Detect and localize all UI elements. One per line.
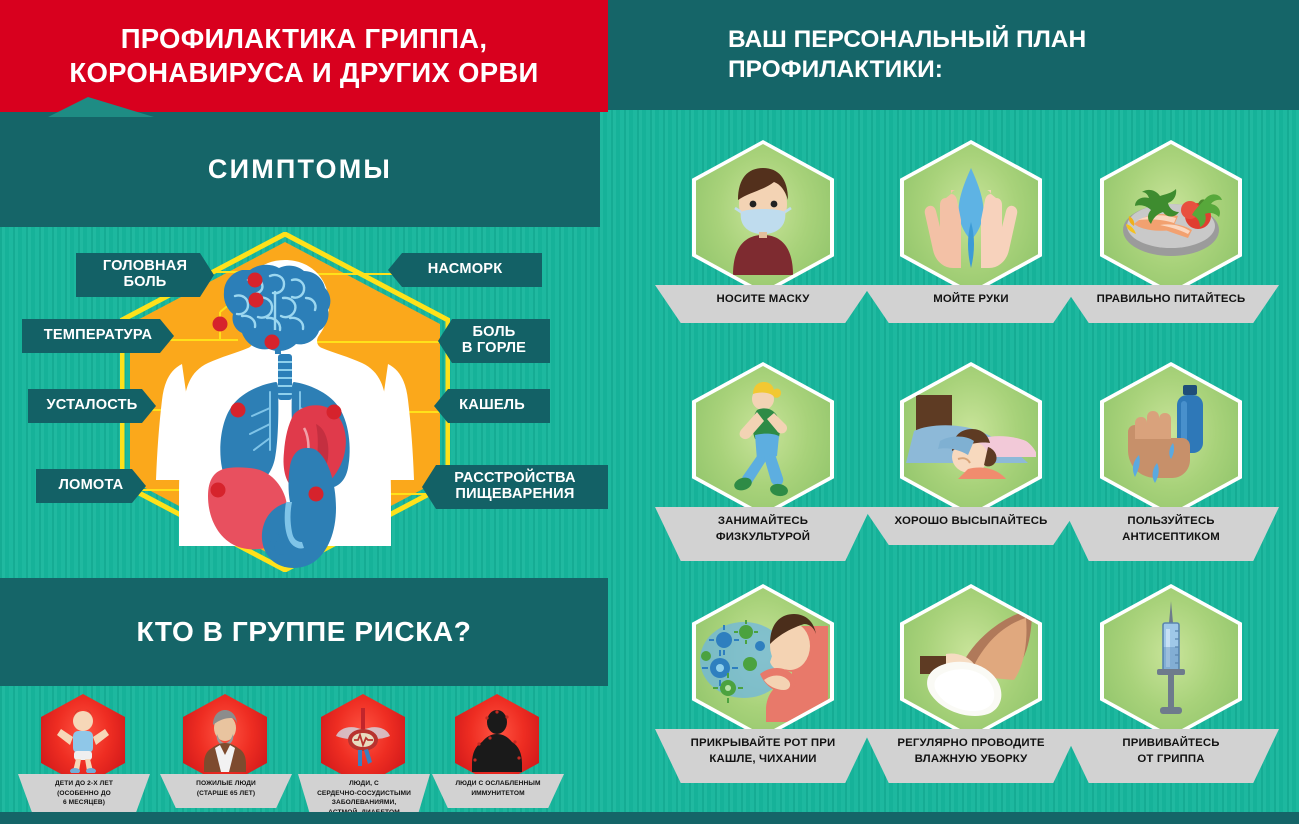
risk-item-chronic-disease[interactable]: ЛЮДИ, С СЕРДЕЧНО-СОСУДИСТЫМИ ЗАБОЛЕВАНИЯ… — [298, 694, 428, 824]
risk-caption-line: ЛЮДИ, С — [302, 779, 426, 789]
main-title-banner: ПРОФИЛАКТИКА ГРИППА, КОРОНАВИРУСА И ДРУГ… — [0, 0, 608, 112]
symptom-label-runny-nose: НАСМОРК — [388, 253, 542, 287]
plan-title-line2: ПРОФИЛАКТИКИ: — [728, 56, 943, 83]
prevention-caption-line: ЗАНИМАЙТЕСЬ — [661, 513, 865, 529]
face-mask-icon — [713, 160, 813, 275]
prevention-hexagon — [692, 584, 834, 739]
prevention-caption: ПРИВИВАЙТЕСЬ ОТ ГРИППА — [1063, 729, 1279, 783]
risk-hexagon — [321, 694, 405, 786]
antiseptic-icon — [1115, 381, 1227, 499]
risk-caption-line: ЗАБОЛЕВАНИЯМИ, — [302, 798, 426, 808]
risk-caption-line: ДЕТИ ДО 2-Х ЛЕТ — [22, 779, 146, 789]
risk-caption-line: 6 МЕСЯЦЕВ) — [22, 798, 146, 808]
banner-notch-triangle — [48, 97, 154, 117]
prevention-hexagon-inner — [1104, 588, 1238, 735]
risk-item-elderly[interactable]: ПОЖИЛЫЕ ЛЮДИ (СТАРШЕ 65 ЛЕТ) — [160, 694, 290, 808]
prevention-hexagon-inner — [696, 588, 830, 735]
risk-caption-line: СЕРДЕЧНО-СОСУДИСТЫМИ — [302, 789, 426, 799]
symptom-text: НАСМОРК — [428, 262, 503, 278]
main-title-line1: ПРОФИЛАКТИКА ГРИППА, — [121, 23, 488, 54]
symptom-label-digestive: РАССТРОЙСТВА ПИЩЕВАРЕНИЯ — [422, 465, 608, 509]
symptom-text: ПИЩЕВАРЕНИЯ — [455, 486, 574, 502]
symptom-label-headache: ГОЛОВНАЯ БОЛЬ — [76, 253, 214, 297]
risk-caption-line: ИММУНИТЕТОМ — [436, 789, 560, 799]
prevention-caption-line: КАШЛЕ, ЧИХАНИИ — [661, 751, 865, 767]
risk-caption-line: ПОЖИЛЫЕ ЛЮДИ — [164, 779, 288, 789]
page-title: ПРОФИЛАКТИКА ГРИППА, КОРОНАВИРУСА И ДРУГ… — [35, 22, 572, 89]
prevention-hexagon-inner — [904, 366, 1038, 513]
prevention-caption: НОСИТЕ МАСКУ — [655, 285, 871, 323]
risk-section-header: КТО В ГРУППЕ РИСКА? — [0, 578, 608, 686]
prevention-hexagon-inner — [1104, 366, 1238, 513]
prevention-item-exercise[interactable]: ЗАНИМАЙТЕСЬ ФИЗКУЛЬТУРОЙ — [648, 362, 878, 561]
symptom-label-temperature: ТЕМПЕРАТУРА — [22, 319, 174, 353]
main-title-line2: КОРОНАВИРУСА И ДРУГИХ ОРВИ — [69, 57, 538, 88]
prevention-caption-line: ОТ ГРИППА — [1069, 751, 1273, 767]
prevention-caption: МОЙТЕ РУКИ — [863, 285, 1079, 323]
prevention-caption: ЗАНИМАЙТЕСЬ ФИЗКУЛЬТУРОЙ — [655, 507, 871, 561]
prevention-hexagon — [900, 584, 1042, 739]
plan-section-header: ВАШ ПЕРСОНАЛЬНЫЙ ПЛАН ПРОФИЛАКТИКИ: — [608, 0, 1299, 110]
plan-title-line1: ВАШ ПЕРСОНАЛЬНЫЙ ПЛАН — [728, 26, 1086, 53]
trachea-icon — [278, 354, 292, 400]
symptoms-title: СИМПТОМЫ — [208, 154, 392, 185]
prevention-caption-line: НОСИТЕ МАСКУ — [661, 291, 865, 307]
prevention-item-cover-cough[interactable]: ПРИКРЫВАЙТЕ РОТ ПРИ КАШЛЕ, ЧИХАНИИ — [648, 584, 878, 783]
symptom-text: ЛОМОТА — [59, 478, 124, 494]
prevention-item-antiseptic[interactable]: ПОЛЬЗУЙТЕСЬ АНТИСЕПТИКОМ — [1056, 362, 1286, 561]
risk-caption-line: (СТАРШЕ 65 ЛЕТ) — [164, 789, 288, 799]
prevention-item-sleep[interactable]: ХОРОШО ВЫСЫПАЙТЕСЬ — [856, 362, 1086, 545]
prevention-caption: ПОЛЬЗУЙТЕСЬ АНТИСЕПТИКОМ — [1063, 507, 1279, 561]
risk-caption-line: ЛЮДИ С ОСЛАБЛЕННЫМ — [436, 779, 560, 789]
prevention-hexagon — [1100, 362, 1242, 517]
prevention-hexagon — [692, 140, 834, 295]
syringe-icon — [1141, 601, 1201, 723]
symptom-text: БОЛЬ — [472, 324, 515, 340]
prevention-caption-line: ФИЗКУЛЬТУРОЙ — [661, 529, 865, 545]
elderly-person-icon — [198, 708, 252, 772]
prevention-hexagon-inner — [696, 366, 830, 513]
prevention-hexagon — [1100, 140, 1242, 295]
prevention-hexagon — [1100, 584, 1242, 739]
risk-caption: ЛЮДИ С ОСЛАБЛЕННЫМ ИММУНИТЕТОМ — [432, 774, 564, 808]
prevention-hexagon — [692, 362, 834, 517]
healthy-food-icon — [1112, 168, 1230, 268]
wet-cleaning-icon — [906, 604, 1036, 719]
prevention-caption-line: ХОРОШО ВЫСЫПАЙТЕСЬ — [869, 513, 1073, 529]
prevention-caption-line: ПОЛЬЗУЙТЕСЬ — [1069, 513, 1273, 529]
symptom-text: ГОЛОВНАЯ — [103, 258, 187, 274]
symptom-label-cough: КАШЕЛЬ — [434, 389, 550, 423]
baby-icon — [55, 707, 111, 773]
risk-group-list: ДЕТИ ДО 2-Х ЛЕТ (ОСОБЕННО ДО 6 МЕСЯЦЕВ) … — [0, 686, 608, 824]
prevention-hexagon-inner — [904, 144, 1038, 291]
footer-strip — [0, 812, 1299, 824]
prevention-item-wear-mask[interactable]: НОСИТЕ МАСКУ — [648, 140, 878, 323]
prevention-caption-line: РЕГУЛЯРНО ПРОВОДИТЕ — [869, 735, 1073, 751]
washing-hands-icon — [916, 160, 1026, 275]
prevention-caption-line: ПРИКРЫВАЙТЕ РОТ ПРИ — [661, 735, 865, 751]
risk-hexagon — [455, 694, 539, 786]
cover-cough-icon — [698, 602, 828, 722]
heart-disease-icon — [334, 706, 392, 774]
risk-item-children[interactable]: ДЕТИ ДО 2-Х ЛЕТ (ОСОБЕННО ДО 6 МЕСЯЦЕВ) — [18, 694, 148, 818]
prevention-item-wash-hands[interactable]: МОЙТЕ РУКИ — [856, 140, 1086, 323]
prevention-item-flu-vaccine[interactable]: ПРИВИВАЙТЕСЬ ОТ ГРИППА — [1056, 584, 1286, 783]
prevention-hexagon-inner — [1104, 144, 1238, 291]
symptoms-section-header: СИМПТОМЫ — [0, 112, 600, 227]
risk-hexagon — [41, 694, 125, 786]
symptom-text: КАШЕЛЬ — [459, 398, 525, 414]
prevention-caption-line: ПРИВИВАЙТЕСЬ — [1069, 735, 1273, 751]
symptom-label-fatigue: УСТАЛОСТЬ — [28, 389, 156, 423]
symptom-label-bodyache: ЛОМОТА — [36, 469, 146, 503]
prevention-hexagon — [900, 140, 1042, 295]
prevention-caption: РЕГУЛЯРНО ПРОВОДИТЕ ВЛАЖНУЮ УБОРКУ — [863, 729, 1079, 783]
symptom-text: БОЛЬ — [123, 274, 166, 290]
prevention-caption-line: ПРАВИЛЬНО ПИТАЙТЕСЬ — [1069, 291, 1273, 307]
risk-caption-line: (ОСОБЕННО ДО — [22, 789, 146, 799]
infographic-root: ПРОФИЛАКТИКА ГРИППА, КОРОНАВИРУСА И ДРУГ… — [0, 0, 1299, 824]
risk-hexagon — [183, 694, 267, 786]
symptoms-diagram: ГОЛОВНАЯ БОЛЬ ТЕМПЕРАТУРА УСТАЛОСТЬ ЛОМО… — [0, 227, 608, 579]
symptom-text: УСТАЛОСТЬ — [47, 398, 138, 414]
prevention-caption-line: МОЙТЕ РУКИ — [869, 291, 1073, 307]
symptom-text: РАССТРОЙСТВА — [454, 470, 575, 486]
risk-title: КТО В ГРУППЕ РИСКА? — [137, 616, 472, 648]
prevention-caption: ПРИКРЫВАЙТЕ РОТ ПРИ КАШЛЕ, ЧИХАНИИ — [655, 729, 871, 783]
prevention-caption: ПРАВИЛЬНО ПИТАЙТЕСЬ — [1063, 285, 1279, 323]
prevention-hexagon — [900, 362, 1042, 517]
prevention-grid: НОСИТЕ МАСКУ — [608, 110, 1299, 824]
prevention-caption-line: ВЛАЖНУЮ УБОРКУ — [869, 751, 1073, 767]
prevention-hexagon-inner — [696, 144, 830, 291]
weak-immunity-icon — [469, 708, 525, 772]
risk-item-weak-immunity[interactable]: ЛЮДИ С ОСЛАБЛЕННЫМ ИММУНИТЕТОМ — [432, 694, 562, 808]
prevention-caption: ХОРОШО ВЫСЫПАЙТЕСЬ — [863, 507, 1079, 545]
symptom-text: ТЕМПЕРАТУРА — [44, 328, 152, 344]
risk-caption: ПОЖИЛЫЕ ЛЮДИ (СТАРШЕ 65 ЛЕТ) — [160, 774, 292, 808]
symptom-text: В ГОРЛЕ — [462, 340, 526, 356]
running-person-icon — [713, 380, 813, 500]
symptom-label-sore-throat: БОЛЬ В ГОРЛЕ — [438, 319, 550, 363]
prevention-item-eat-well[interactable]: ПРАВИЛЬНО ПИТАЙТЕСЬ — [1056, 140, 1286, 323]
prevention-hexagon-inner — [904, 588, 1038, 735]
prevention-caption-line: АНТИСЕПТИКОМ — [1069, 529, 1273, 545]
prevention-item-wet-cleaning[interactable]: РЕГУЛЯРНО ПРОВОДИТЕ ВЛАЖНУЮ УБОРКУ — [856, 584, 1086, 783]
plan-title: ВАШ ПЕРСОНАЛЬНЫЙ ПЛАН ПРОФИЛАКТИКИ: — [608, 25, 1086, 86]
sleeping-person-icon — [906, 385, 1036, 495]
